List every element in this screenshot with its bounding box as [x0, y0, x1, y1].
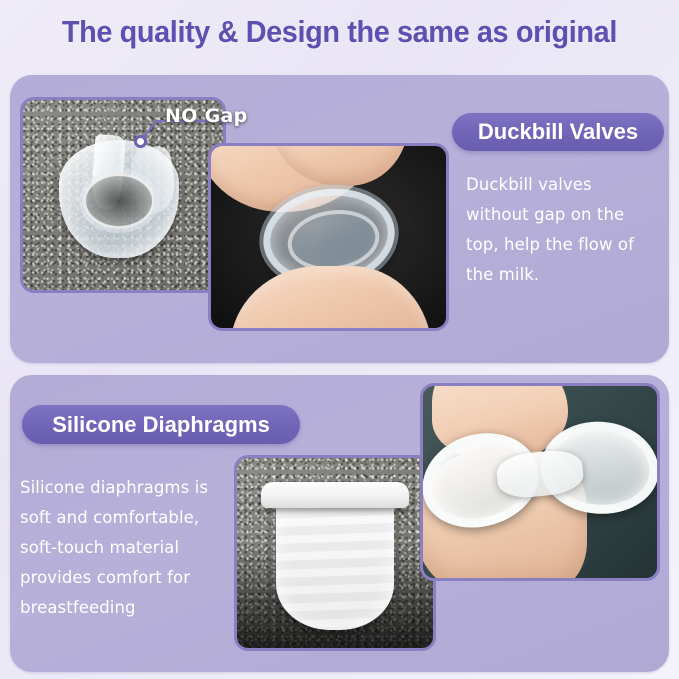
copy-line: provides comfort for: [20, 563, 256, 593]
panel-duckbill-valves: NO Gap Duckbill Valves Duckbill valves w…: [10, 75, 669, 363]
panel-silicone-diaphragms: Silicone Diaphragms Silicone diaphragms …: [10, 375, 669, 672]
silicone-diaphragm-cup-illustration: [271, 482, 399, 632]
copy-silicone-diaphragms: Silicone diaphragms is soft and comforta…: [20, 473, 256, 623]
copy-line: without gap on the: [466, 200, 666, 230]
copy-line: top, help the flow of: [466, 230, 666, 260]
copy-line: breastfeeding: [20, 593, 256, 623]
badge-duckbill-label: Duckbill Valves: [478, 119, 638, 145]
copy-line: Duckbill valves: [466, 170, 666, 200]
copy-line: Silicone diaphragms is: [20, 473, 256, 503]
page-title-text: The quality & Design the same as origina…: [62, 14, 617, 50]
copy-line: soft-touch material: [20, 533, 256, 563]
copy-line: the milk.: [466, 260, 666, 290]
no-gap-marker-dot: [134, 135, 147, 148]
badge-duckbill-valves: Duckbill Valves: [452, 113, 664, 151]
copy-line: soft and comfortable,: [20, 503, 256, 533]
photo-silicone-diaphragm-cup: [234, 455, 436, 651]
badge-diaphragm-label: Silicone Diaphragms: [52, 412, 270, 438]
photo-hand-holding-silicone-diaphragm: [420, 383, 660, 581]
photo-fingers-holding-duckbill-valve: [208, 143, 449, 331]
copy-duckbill-valves: Duckbill valves without gap on the top, …: [466, 170, 666, 290]
page-title: The quality & Design the same as origina…: [0, 14, 679, 50]
no-gap-label: NO Gap: [165, 105, 248, 127]
badge-silicone-diaphragms: Silicone Diaphragms: [22, 405, 300, 444]
